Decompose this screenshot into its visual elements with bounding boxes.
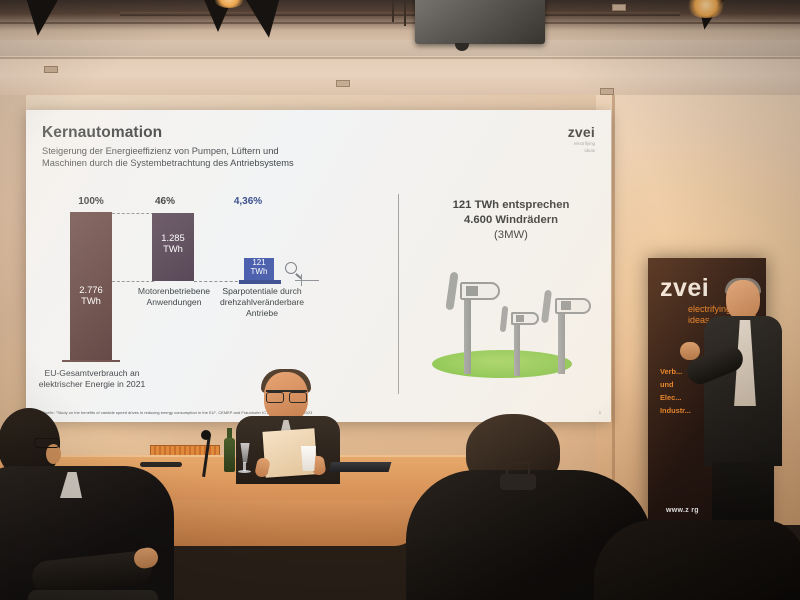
dashed-connector-top (112, 213, 154, 214)
slide-subtitle-line1: Steigerung der Energieeffizienz von Pump… (42, 145, 595, 157)
wine-glass-foot (238, 470, 251, 473)
ceiling-band (0, 57, 800, 59)
presenter-glasses-icon (266, 390, 307, 399)
zvei-logo-word: zvei (568, 124, 595, 140)
bar3-caption-line1: Sparpotentiale durch (210, 286, 314, 297)
bar1-value-label: 2.776 TWh (70, 284, 112, 306)
bar2-caption: Motorenbetriebene Anwendungen (134, 286, 214, 308)
bar3-percent-label: 4,36% (220, 196, 276, 207)
bar3-value-line2: TWh (247, 268, 271, 277)
ceiling-cable (404, 0, 406, 26)
grass-ellipse (432, 350, 572, 378)
turbine-mast (558, 308, 565, 374)
banner-body-text: Verb... und Elec... Industr... (660, 366, 691, 418)
bar2-value-line1: 1.285 (152, 232, 194, 243)
bar1-caption: EU-Gesamtverbrauch an elektrischer Energ… (34, 368, 150, 390)
audience-left-glasses-icon (34, 438, 60, 448)
connector-line (295, 280, 319, 281)
wind-turbine-illustration (418, 258, 604, 380)
audience-left-chair (28, 590, 158, 600)
wind-line2: 4.600 Windrädern (418, 213, 604, 228)
bar2-caption-line1: Motorenbetriebene (134, 286, 214, 297)
bar1-baseline (62, 360, 120, 362)
section-divider (398, 194, 399, 394)
bar2-percent-label: 46% (134, 196, 196, 207)
bar2-value-line2: TWh (152, 243, 194, 254)
paper-cup (300, 446, 317, 471)
ceiling-cable (392, 0, 394, 22)
bar2-caption-line2: Anwendungen (134, 297, 214, 308)
savings-value-box: 121 TWh (244, 258, 274, 280)
banner-body-line2: und (660, 379, 691, 392)
audience-member-right (594, 520, 800, 600)
ceiling-vent-icon (44, 66, 58, 73)
turbine-hub-icon (561, 301, 571, 310)
bar1-value-line2: TWh (70, 295, 112, 306)
banner-body-line4: Industr... (660, 405, 691, 418)
stage-light-icon (245, 0, 286, 40)
bar2-value-label: 1.285 TWh (152, 232, 194, 254)
bar3-caption-line3: Antriebe (210, 308, 314, 319)
microphone-head-icon (201, 430, 211, 440)
ceiling (0, 0, 800, 96)
dashed-connector-bottom (112, 281, 154, 282)
wind-equivalent-panel: 121 TWh entsprechen 4.600 Windrädern (3M… (418, 198, 604, 243)
turbine-hub-icon (516, 315, 524, 322)
ceiling-vent-icon (600, 88, 614, 95)
turbine-hub-icon (466, 286, 478, 296)
water-bottle (224, 438, 235, 472)
speaker-hand (680, 342, 700, 360)
audience-member-left (0, 408, 156, 600)
turbine-blade-icon (541, 290, 552, 324)
standing-speaker (700, 280, 786, 530)
bar-chart: 100% 2.776 TWh EU-Gesamtverbrauch an ele… (42, 196, 392, 392)
stage-light-icon (20, 0, 60, 38)
savings-box-plate (239, 280, 281, 284)
laptop (329, 462, 392, 472)
wind-line1: 121 TWh entsprechen (418, 198, 604, 213)
bar1-caption-line2: elektrischer Energie in 2021 (34, 379, 150, 390)
bar1-value-line1: 2.776 (70, 284, 112, 295)
bar3-caption-line2: drehzahlveränderbare (210, 297, 314, 308)
turbine-mast (464, 292, 471, 374)
ceiling-strip (0, 40, 800, 56)
ceiling-vent-icon (336, 80, 350, 87)
conference-room-scene: Kernautomation Steigerung der Energieeff… (0, 0, 800, 600)
ceiling-vent-icon (612, 4, 626, 11)
audience-center-collar (500, 474, 536, 490)
banner-body-line3: Elec... (660, 392, 691, 405)
zvei-logo-tagline-line2: ideas (568, 148, 595, 154)
turbine-blade-icon (500, 306, 509, 332)
connector-tick (301, 274, 302, 286)
projector (415, 0, 545, 44)
turbine-mast (514, 320, 520, 376)
turbine-blade-icon (445, 272, 458, 311)
bar3-caption: Sparpotentiale durch drehzahlveränderbar… (210, 286, 314, 319)
slide-subtitle: Steigerung der Energieeffizienz von Pump… (42, 145, 595, 170)
wind-equivalent-heading: 121 TWh entsprechen 4.600 Windrädern (3M… (418, 198, 604, 243)
zvei-logo-tagline-line1: electrifying (568, 141, 595, 147)
slide-title: Kernautomation (42, 124, 595, 142)
wind-line3: (3MW) (418, 228, 604, 243)
slide-subtitle-line2: Maschinen durch die Systembetrachtung de… (42, 157, 595, 169)
bar1-caption-line1: EU-Gesamtverbrauch an (34, 368, 150, 379)
bar1-percent-label: 100% (52, 196, 130, 207)
zvei-logo: zvei electrifying ideas (568, 124, 595, 153)
speaker-head (726, 280, 760, 320)
ceiling-band (0, 22, 800, 24)
banner-url: www.z rg (666, 507, 699, 514)
magnifier-icon (285, 262, 297, 274)
